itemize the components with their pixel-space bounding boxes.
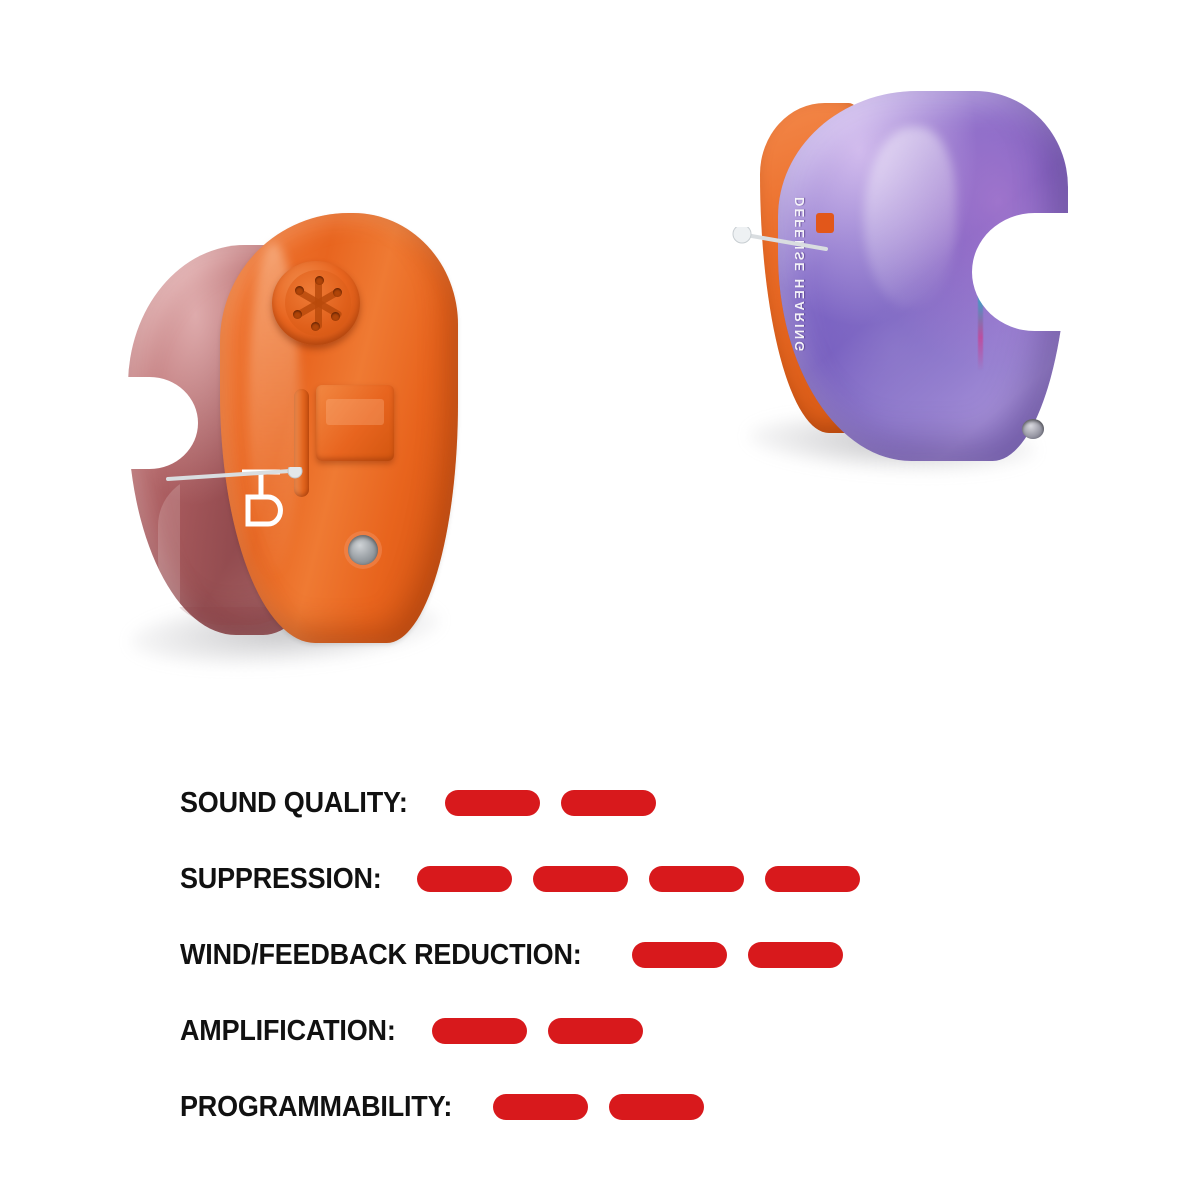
product-image-purple-earpiece: DEFENSE HEARING [730,85,1070,475]
rating-bar [533,866,628,892]
earpiece-faceplate-orange [220,213,458,643]
product-spec-card: DEFENSE HEARING SOUND QUALITY: SUPPRESSI… [0,0,1200,1200]
rating-bars [417,866,860,892]
rating-bar [765,866,860,892]
rating-bar [548,1018,643,1044]
rating-bar [649,866,744,892]
vent-knob[interactable] [272,261,360,345]
rating-bar [561,790,656,816]
shell-gloss-highlight [864,127,956,307]
vent-knob-face [285,270,351,336]
rating-bar [748,942,843,968]
brand-label-defense-hearing: DEFENSE HEARING [792,197,807,353]
spec-row-sound-quality: SOUND QUALITY: [180,778,1140,828]
rating-bars [493,1094,704,1120]
spec-label: SOUND QUALITY: [180,789,408,818]
spec-label: SUPPRESSION: [180,865,382,894]
spec-row-amplification: AMPLIFICATION: [180,1006,1140,1056]
spec-label: AMPLIFICATION: [180,1017,396,1046]
receiver-port-icon [1022,419,1044,439]
rating-bar [609,1094,704,1120]
spec-label: PROGRAMMABILITY: [180,1093,452,1122]
product-gallery: DEFENSE HEARING [0,0,1200,740]
battery-door-button[interactable] [316,385,394,461]
rating-bars [632,942,843,968]
rating-bar [493,1094,588,1120]
rating-bar [432,1018,527,1044]
removal-pull-handle-icon [730,227,840,251]
rating-bar [417,866,512,892]
rating-bar [632,942,727,968]
rating-bar [445,790,540,816]
rating-bars [432,1018,643,1044]
rating-bars [445,790,656,816]
spec-row-wind-feedback-reduction: WIND/FEEDBACK REDUCTION: [180,930,1140,980]
product-image-orange-earpiece [120,195,480,665]
spec-label: WIND/FEEDBACK REDUCTION: [180,941,582,970]
removal-pull-handle-icon [162,467,312,483]
spec-row-suppression: SUPPRESSION: [180,854,1140,904]
spec-rating-list: SOUND QUALITY: SUPPRESSION: WIND/FEEDBAC… [180,778,1140,1132]
microphone-port-icon [348,535,378,565]
spec-row-programmability: PROGRAMMABILITY: [180,1082,1140,1132]
